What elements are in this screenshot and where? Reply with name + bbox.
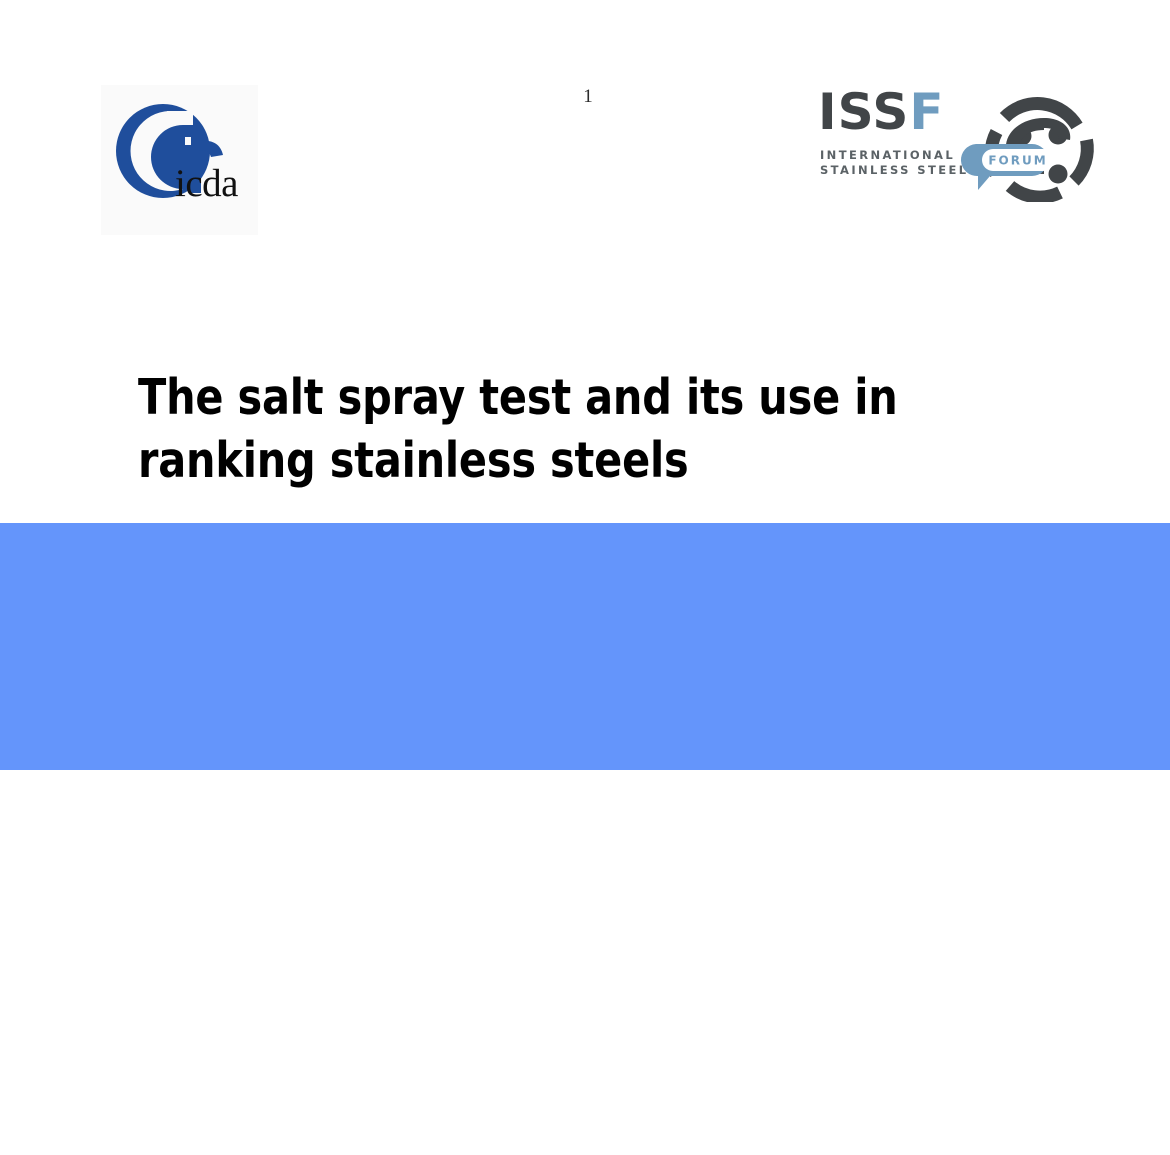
issf-forum-mark-icon: FORUM bbox=[948, 82, 1110, 202]
issf-logo: ISSF INTERNATIONAL STAINLESS STEEL FORUM bbox=[818, 86, 1108, 198]
icda-cr-mark-icon bbox=[101, 85, 258, 235]
issf-wordmark-iss: ISS bbox=[818, 83, 909, 141]
issf-wordmark: ISSF bbox=[818, 87, 945, 137]
issf-subtitle: INTERNATIONAL STAINLESS STEEL bbox=[820, 148, 968, 178]
page-number: 1 bbox=[572, 86, 604, 108]
issf-forum-label: FORUM bbox=[988, 154, 1047, 168]
slide-canvas: icda 1 ISSF INTERNATIONAL STAINLESS STEE… bbox=[0, 0, 1170, 770]
section-banner-title: The test and its limits bbox=[155, 1095, 620, 1155]
section-banner: The test and its limits bbox=[0, 523, 1170, 770]
icda-logo: icda bbox=[101, 85, 258, 235]
icda-wordmark: icda bbox=[175, 164, 238, 203]
issf-dot-bottom bbox=[1049, 165, 1068, 184]
page-title: The salt spray test and its use in ranki… bbox=[138, 366, 984, 492]
issf-wordmark-f: F bbox=[909, 83, 944, 141]
